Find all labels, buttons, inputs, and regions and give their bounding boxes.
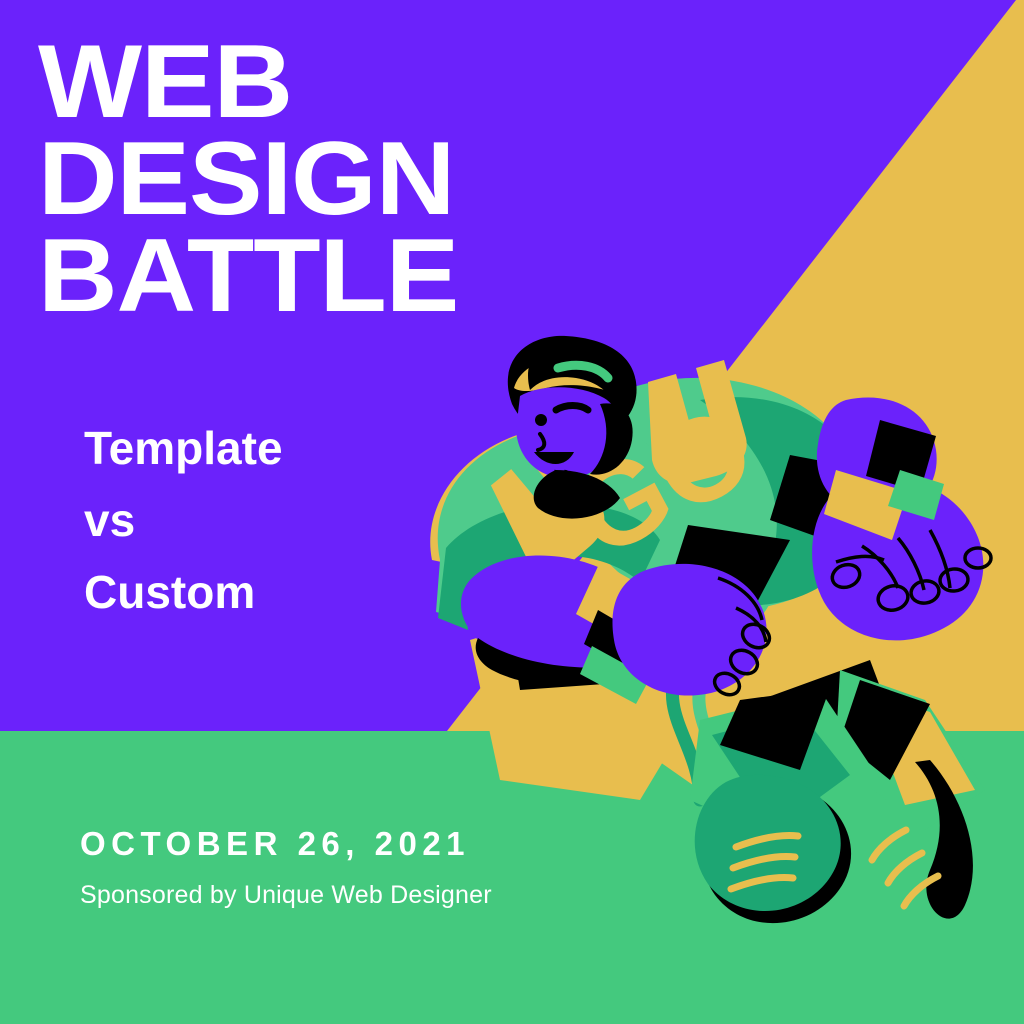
sponsor-text: Sponsored by Unique Web Designer [80,880,492,910]
title-line-2: DESIGN [38,131,458,228]
poster-footer: OCTOBER 26, 2021 Sponsored by Unique Web… [80,824,492,910]
subtitle-line-2: vs [84,484,283,556]
subtitle-line-3: Custom [84,556,283,628]
subtitle-line-1: Template [84,412,283,484]
event-date: OCTOBER 26, 2021 [80,824,492,864]
poster-canvas: WEB DESIGN BATTLE Template vs Custom [0,0,1024,1024]
title-line-1: WEB [38,34,458,131]
poster-title: WEB DESIGN BATTLE [38,34,434,325]
poster-subtitle: Template vs Custom [84,412,283,628]
title-line-3: BATTLE [38,228,458,325]
